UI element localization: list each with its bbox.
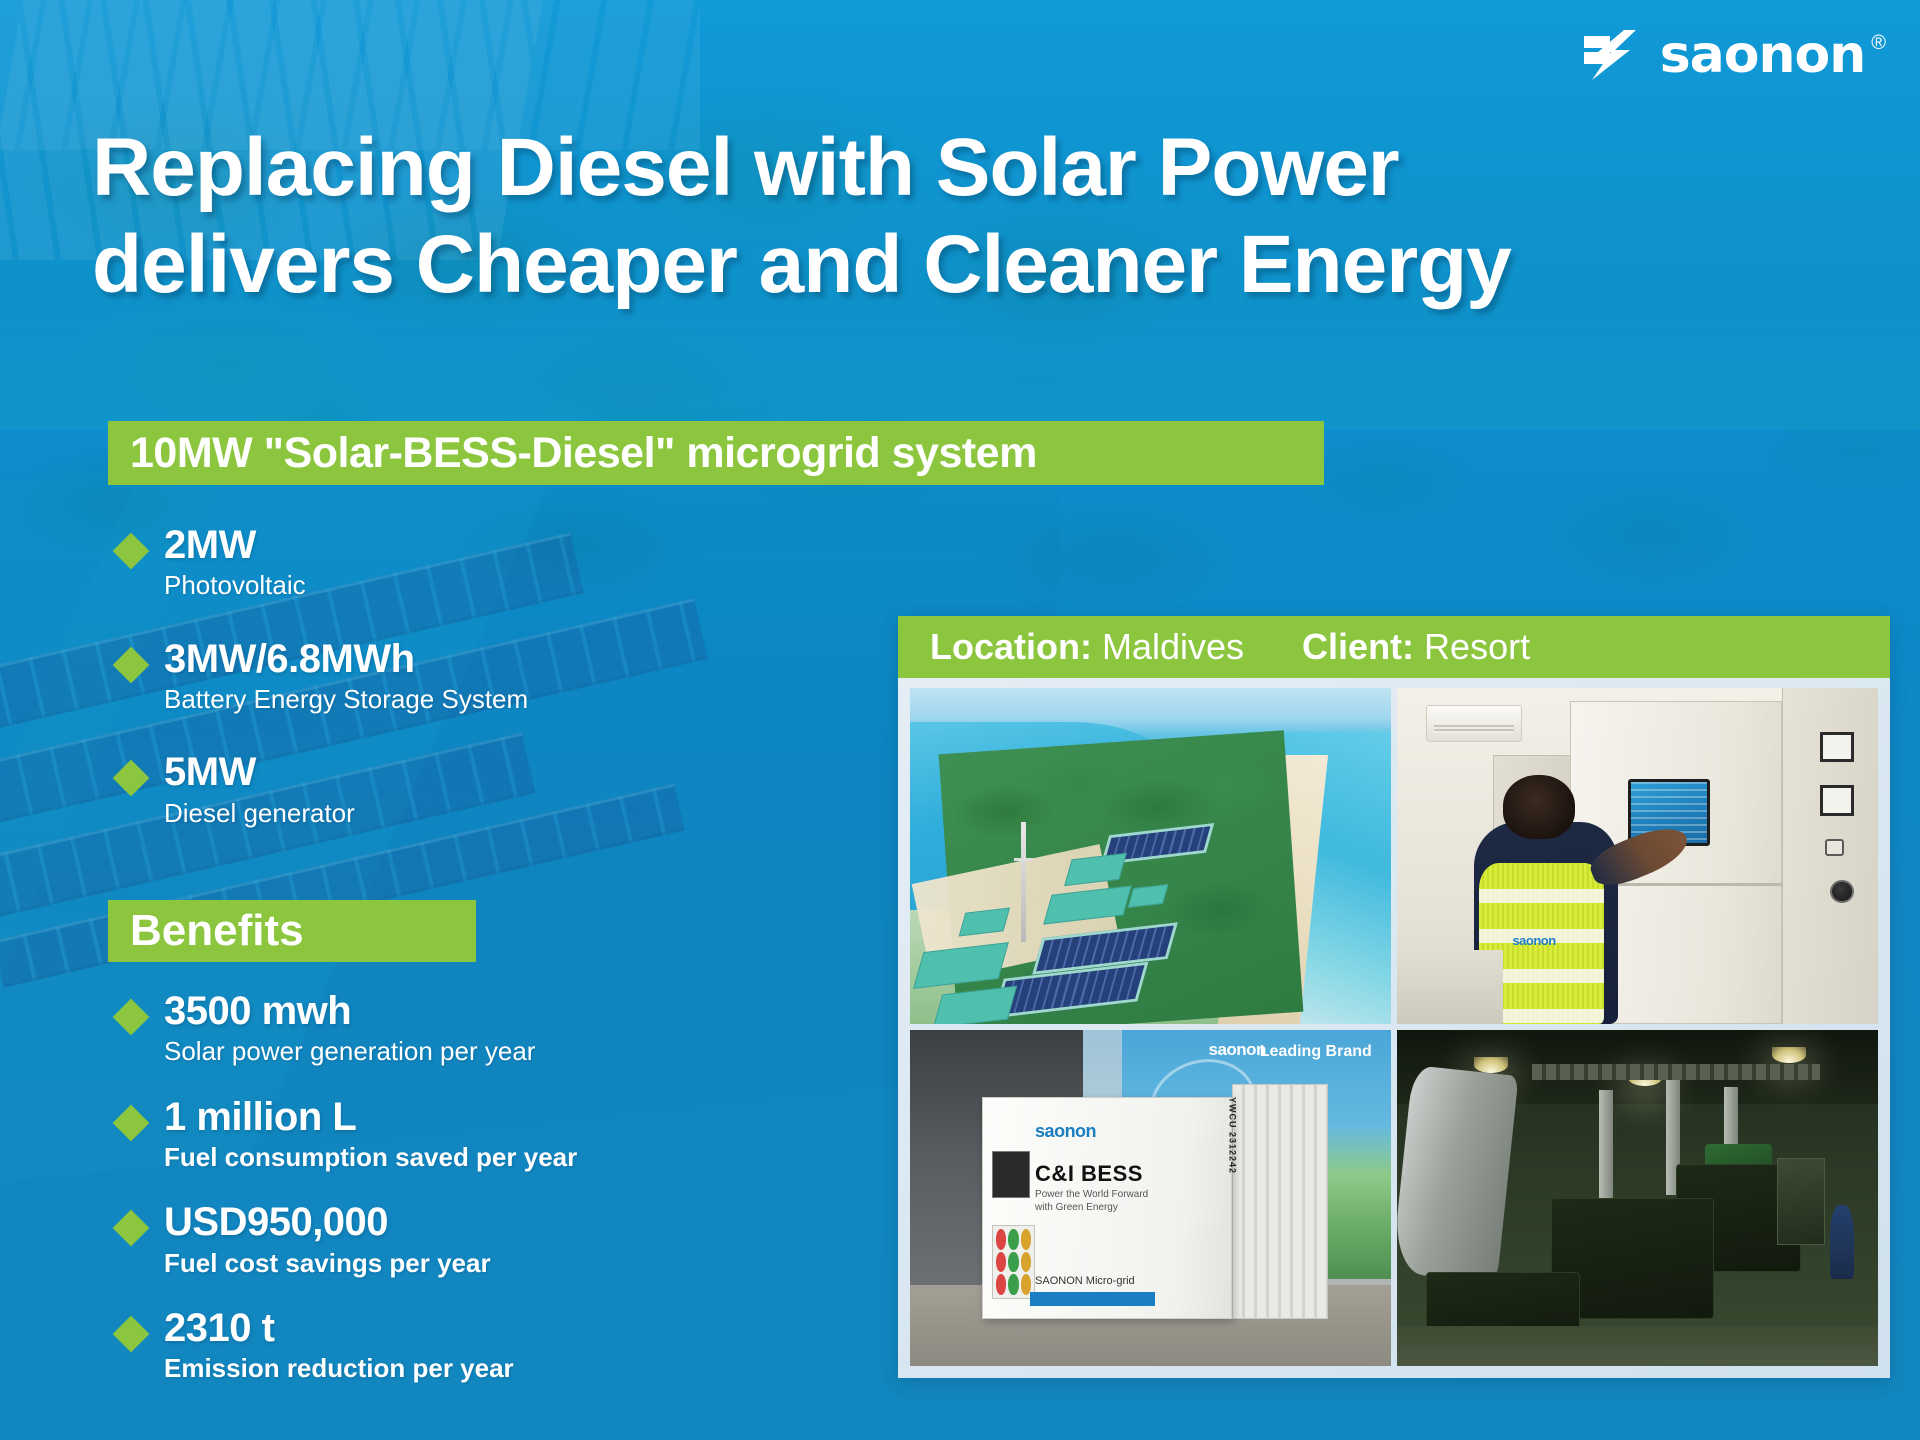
benefit-description: Emission reduction per year [164,1352,770,1385]
benefit-value: USD950,000 [164,1201,770,1244]
list-item: USD950,000 Fuel cost savings per year [110,1201,770,1279]
vest-brand-label: saonon [1512,933,1555,948]
list-item: 1 million L Fuel consumption saved per y… [110,1096,770,1174]
brand-logo: saonon ® [1584,30,1886,80]
benefit-value: 3500 mwh [164,990,770,1033]
list-item: 2310 t Emission reduction per year [110,1307,770,1385]
location-value: Maldives [1102,626,1244,668]
container-tagline: Power the World Forward with Green Energ… [1035,1188,1165,1214]
photo-aerial-island-solar [910,688,1391,1024]
benefits-list: 3500 mwh Solar power generation per year… [110,990,770,1413]
project-photo-panel: Location: Maldives Client: Resort [898,616,1890,1378]
client-value: Resort [1424,626,1530,668]
photo-bess-container: saonon Leading Brand saonon C&I BESS Pow… [910,1030,1391,1366]
list-item: 3MW/6.8MWh Battery Energy Storage System [110,638,750,716]
container-product-label: C&I BESS [1035,1161,1143,1187]
spec-value: 2MW [164,524,750,567]
spec-value: 3MW/6.8MWh [164,638,750,681]
ceiling-lamp-icon [1474,1057,1508,1073]
benefit-description: Fuel consumption saved per year [164,1141,770,1174]
backdrop-tagline: Leading Brand [1260,1043,1372,1061]
container-brand-label: saonon [1035,1121,1096,1142]
lightning-bolt-logo-icon [1584,30,1654,80]
slide-root: saonon ® Replacing Diesel with Solar Pow… [0,0,1920,1440]
control-button-cluster [992,1225,1035,1299]
list-item: 3500 mwh Solar power generation per year [110,990,770,1068]
client-label: Client: [1302,626,1414,668]
diamond-bullet-icon [113,1104,150,1141]
diamond-bullet-icon [113,646,150,683]
container-code-label: YWCU 2312242 [1227,1097,1237,1174]
project-header: Location: Maldives Client: Resort [898,616,1890,678]
photo-diesel-generator-hall [1397,1030,1878,1366]
diamond-bullet-icon [113,533,150,570]
air-conditioner-icon [1426,705,1522,742]
diamond-bullet-icon [113,1316,150,1353]
client-group: Client: Resort [1302,626,1530,668]
photo-technician-control-panel: saonon [1397,688,1878,1024]
specs-list: 2MW Photovoltaic 3MW/6.8MWh Battery Ener… [110,524,750,865]
diamond-bullet-icon [113,760,150,797]
location-group: Location: Maldives [930,626,1244,668]
system-banner-label: 10MW "Solar-BESS-Diesel" microgrid syste… [130,429,1037,478]
page-title-line-2: delivers Cheaper and Cleaner Energy [92,217,1542,314]
spec-description: Battery Energy Storage System [164,683,750,716]
benefit-value: 2310 t [164,1307,770,1350]
benefits-banner: Benefits [108,900,476,962]
registered-trademark-icon: ® [1871,32,1886,54]
spec-description: Photovoltaic [164,569,750,602]
ceiling-lamp-icon [1772,1047,1806,1063]
benefit-value: 1 million L [164,1096,770,1139]
benefits-banner-label: Benefits [130,906,304,956]
location-label: Location: [930,626,1092,668]
comm-tower-icon [1021,822,1026,942]
diamond-bullet-icon [113,1210,150,1247]
spec-description: Diesel generator [164,797,750,830]
list-item: 5MW Diesel generator [110,751,750,829]
benefit-description: Solar power generation per year [164,1035,770,1068]
photo-grid: saonon saonon Leading Brand saonon C&I B… [910,688,1878,1366]
benefit-description: Fuel cost savings per year [164,1247,770,1280]
container-subtitle: SAONON Micro-grid [1035,1275,1135,1287]
backdrop-brand-label: saonon [1209,1040,1266,1060]
diamond-bullet-icon [113,999,150,1036]
spec-value: 5MW [164,751,750,794]
page-title: Replacing Diesel with Solar Power delive… [92,120,1542,314]
page-title-line-1: Replacing Diesel with Solar Power [92,122,1399,213]
brand-logo-wordmark: saonon [1660,30,1866,80]
system-banner: 10MW "Solar-BESS-Diesel" microgrid syste… [108,421,1324,485]
list-item: 2MW Photovoltaic [110,524,750,602]
